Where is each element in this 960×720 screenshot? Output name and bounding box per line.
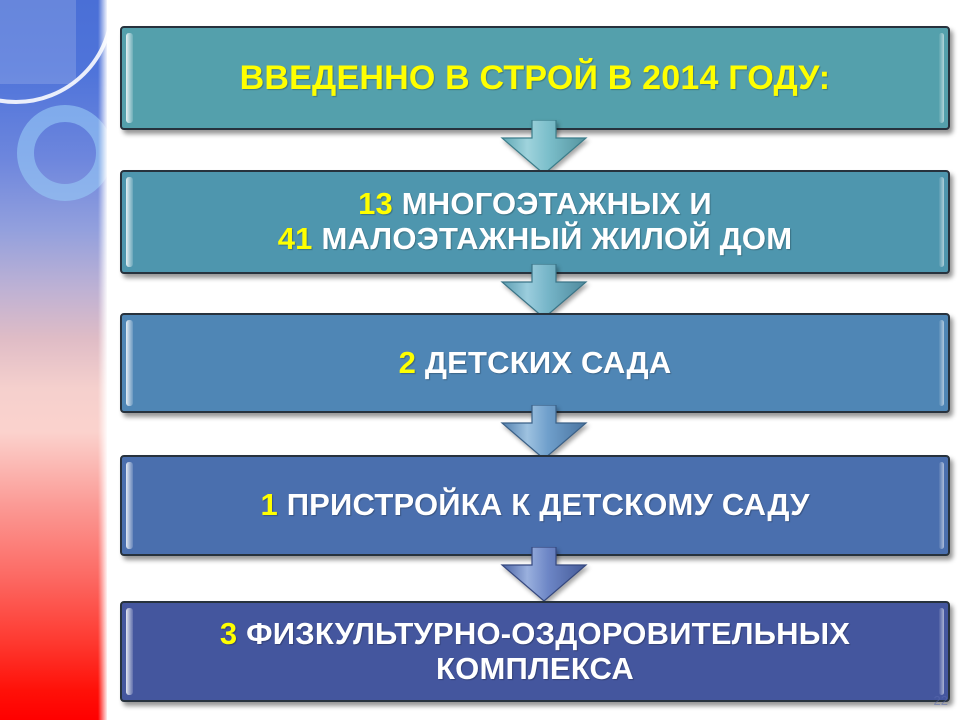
decorative-circle-thick-icon	[17, 105, 107, 201]
decorative-side-panel	[0, 0, 107, 720]
panel-edge-fade	[98, 0, 107, 720]
flow-box-title-text: ВВЕДЕННО В СТРОЙ В 2014 ГОДУ:	[218, 59, 853, 97]
flow-box-housing: 13 МНОГОЭТАЖНЫХ И 41 МАЛОЭТАЖНЫЙ ЖИЛОЙ Д…	[120, 170, 950, 274]
flow-box-housing-line-2: 41 МАЛОЭТАЖНЫЙ ЖИЛОЙ ДОМ	[278, 222, 793, 257]
flow-box-sports-complexes: 3 ФИЗКУЛЬТУРНО-ОЗДОРОВИТЕЛЬНЫХ КОМПЛЕКСА	[120, 601, 950, 702]
decorative-circle-thin-icon	[0, 0, 107, 104]
flow-arrow-down-icon	[496, 120, 592, 174]
slide-number: 22	[934, 693, 948, 708]
flow-box-housing-text: 13 МНОГОЭТАЖНЫХ И 41 МАЛОЭТАЖНЫЙ ЖИЛОЙ Д…	[256, 187, 815, 256]
flow-box-kindergarten-annex-text: 1 ПРИСТРОЙКА К ДЕТСКОМУ САДУ	[238, 488, 831, 523]
flow-box-kindergarten-annex: 1 ПРИСТРОЙКА К ДЕТСКОМУ САДУ	[120, 455, 950, 556]
flow-chart: ВВЕДЕННО В СТРОЙ В 2014 ГОДУ: 13 МНОГОЭТ…	[120, 0, 960, 720]
flow-box-sports-complexes-line-2: КОМПЛЕКСА	[220, 652, 850, 687]
flow-box-kindergartens-text: 2 ДЕТСКИХ САДА	[377, 346, 694, 381]
flow-arrow-down-icon	[496, 547, 592, 601]
flow-box-title: ВВЕДЕННО В СТРОЙ В 2014 ГОДУ:	[120, 26, 950, 130]
slide-canvas: ВВЕДЕННО В СТРОЙ В 2014 ГОДУ: 13 МНОГОЭТ…	[0, 0, 960, 720]
flow-box-sports-complexes-line-1: 3 ФИЗКУЛЬТУРНО-ОЗДОРОВИТЕЛЬНЫХ	[220, 617, 850, 652]
flow-arrow-down-icon	[496, 405, 592, 459]
flow-box-housing-line-1: 13 МНОГОЭТАЖНЫХ И	[278, 187, 793, 222]
flow-box-kindergartens: 2 ДЕТСКИХ САДА	[120, 313, 950, 413]
flow-box-sports-complexes-text: 3 ФИЗКУЛЬТУРНО-ОЗДОРОВИТЕЛЬНЫХ КОМПЛЕКСА	[198, 617, 872, 686]
flow-arrow-down-icon	[496, 264, 592, 318]
